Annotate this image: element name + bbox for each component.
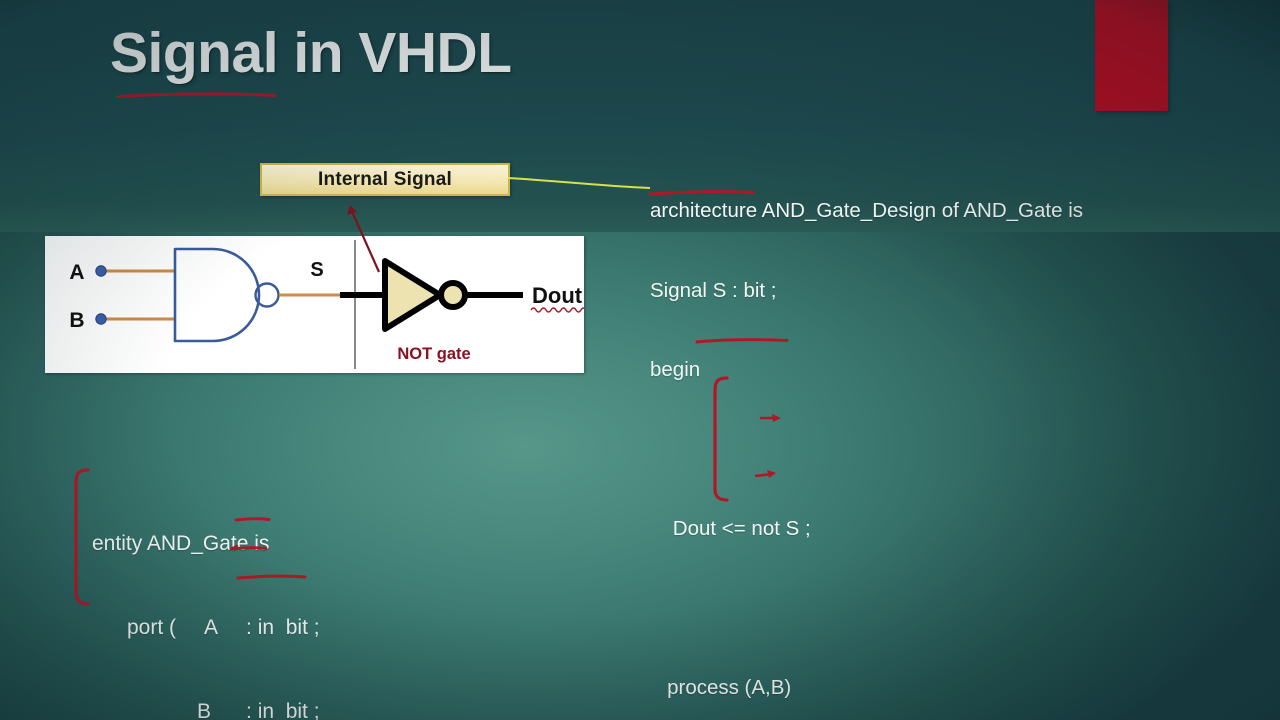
input-label-a: A bbox=[69, 261, 84, 284]
title-underline-stroke bbox=[116, 92, 276, 98]
internal-signal-callout-label: Internal Signal bbox=[318, 169, 452, 191]
arch-code-line: Signal S : bit ; bbox=[650, 278, 1083, 305]
page-title: Signal in VHDL bbox=[110, 20, 512, 86]
entity-code-line: B : in bit ; bbox=[92, 698, 399, 720]
terminal-b bbox=[96, 314, 106, 324]
arch-code-line bbox=[650, 437, 1083, 464]
arch-code-line: process (A,B) bbox=[650, 675, 1083, 702]
entity-declaration-code: entity AND_Gate is port ( A : in bit ; B… bbox=[92, 474, 399, 720]
nand-gate-body bbox=[175, 249, 259, 341]
arch-code-line: Dout <= not S ; bbox=[650, 516, 1083, 543]
architecture-body-code: architecture AND_Gate_Design of AND_Gate… bbox=[650, 145, 1083, 720]
arch-code-line: architecture AND_Gate_Design of AND_Gate… bbox=[650, 198, 1083, 225]
internal-signal-callout: Internal Signal bbox=[260, 163, 510, 196]
dout-spellcheck-squiggle bbox=[531, 308, 584, 312]
not-gate-caption: NOT gate bbox=[397, 345, 470, 363]
internal-signal-label-s: S bbox=[310, 259, 323, 281]
entity-code-line: entity AND_Gate is bbox=[92, 530, 399, 558]
output-label-dout: Dout bbox=[532, 283, 583, 308]
terminal-a bbox=[96, 266, 106, 276]
red-corner-accent-block bbox=[1095, 0, 1168, 111]
input-label-b: B bbox=[69, 309, 84, 332]
not-gate-inversion-bubble bbox=[441, 283, 465, 307]
arch-code-line bbox=[650, 596, 1083, 623]
entity-code-line: port ( A : in bit ; bbox=[92, 614, 399, 642]
not-gate-triangle bbox=[385, 261, 440, 329]
slide-canvas: Signal in VHDL Internal Signal A B S bbox=[0, 0, 1280, 720]
arch-code-line: begin bbox=[650, 357, 1083, 384]
circuit-diagram-panel: A B S Dout NOT gate bbox=[45, 236, 584, 373]
